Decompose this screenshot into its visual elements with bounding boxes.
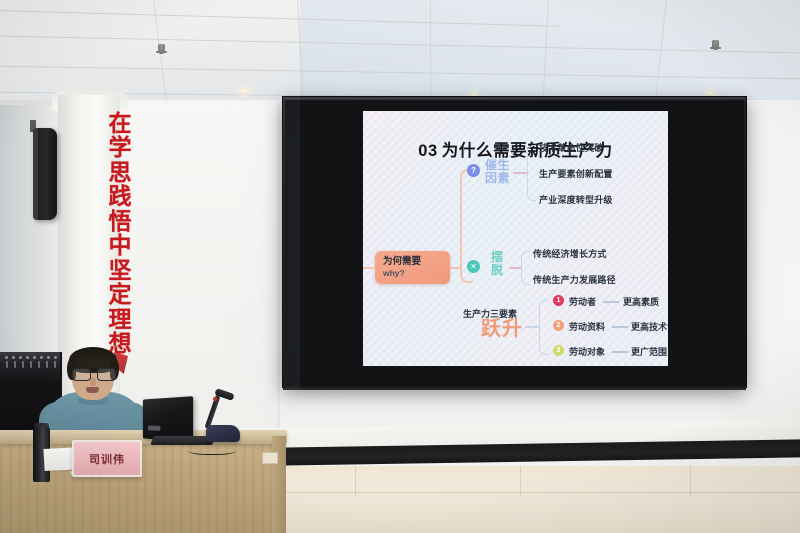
leaf-item: 产业深度转型升级	[539, 193, 613, 206]
row-number-badge: 3	[553, 345, 564, 356]
branch-keyword-2: 摆 脱	[491, 251, 504, 277]
lecture-hall-photo: 在 学 思 践 悟 中 坚 定 理 想 03为什么需要新质生产力 为何需要 wh…	[0, 0, 800, 533]
slide-title-number: 03	[418, 142, 438, 160]
glasses-lens-right	[97, 368, 116, 381]
row-connector-dash	[603, 301, 619, 303]
microphone-cable	[188, 444, 236, 455]
center-node-line2: why?	[383, 268, 450, 279]
banner-char: 坚	[109, 259, 132, 282]
microphone-base[interactable]	[206, 425, 240, 442]
eyebrow-left	[75, 365, 89, 367]
nameplate-text: 司训伟	[89, 451, 125, 467]
row-item-value: 更高素质	[623, 295, 659, 308]
branch-keyword-1-line2: 因素	[485, 172, 510, 185]
floor-tile-seam	[520, 466, 521, 496]
connector-sub-spine-1	[527, 145, 536, 201]
connector-left-stub	[363, 267, 375, 269]
row-number-badge: 2	[553, 320, 564, 331]
laptop-logo	[148, 426, 160, 431]
wall-speaker	[33, 128, 57, 220]
banner-char: 思	[109, 161, 132, 184]
wall-calligraphy-banner: 在 学 思 践 悟 中 坚 定 理 想	[100, 112, 140, 377]
branch-badge-question-icon: ?	[467, 164, 480, 177]
floor-tile-seam	[355, 466, 356, 496]
banner-char: 理	[109, 308, 132, 331]
branch-keyword-2-line2: 脱	[491, 264, 504, 277]
mindmap-center-node: 为何需要 why?	[375, 251, 450, 284]
slide-title: 03为什么需要新质生产力	[363, 137, 668, 161]
leaf-item: 生产要素创新配置	[539, 167, 613, 180]
speaker-trim	[33, 128, 38, 220]
row-item-value: 更高技术含量	[631, 320, 668, 333]
row-number-badge: 1	[553, 295, 564, 306]
banner-char: 践	[109, 185, 132, 208]
screen-bottom-edge	[283, 385, 746, 390]
connector-sub-spine-3	[539, 299, 548, 355]
row-connector-dash	[612, 326, 628, 328]
branch-badge-cross-icon: ✕	[467, 260, 480, 273]
leaf-item: 传统经济增长方式	[533, 247, 607, 260]
glasses-lens-left	[72, 368, 91, 381]
connector-dash	[525, 326, 539, 328]
eyebrow-right	[97, 365, 111, 367]
banner-char: 在	[109, 112, 132, 135]
row-item-label: 劳动资料	[569, 320, 605, 333]
ceiling-downlight	[240, 88, 249, 94]
speaker-nameplate: 司训伟	[72, 440, 142, 477]
presentation-slide: 03为什么需要新质生产力 为何需要 why? ? 催生 因素 技术革命性突破 生…	[363, 111, 668, 366]
ceiling-grid-line	[430, 0, 431, 110]
branch-keyword-1-line1: 催生	[485, 159, 510, 172]
led-display-screen[interactable]: 03为什么需要新质生产力 为何需要 why? ? 催生 因素 技术革命性突破 生…	[283, 97, 746, 387]
laptop[interactable]	[143, 396, 193, 442]
banner-char: 定	[109, 283, 132, 306]
mouth	[86, 387, 99, 393]
connector-dash	[513, 172, 527, 174]
branch-keyword-2-line1: 摆	[491, 251, 504, 264]
row-item-label: 劳动对象	[569, 345, 605, 358]
sprinkler-head-icon	[712, 40, 719, 50]
desk-right-edge	[272, 436, 286, 533]
connector-sub-spine-2	[521, 251, 530, 285]
center-node-line1: 为何需要	[383, 256, 450, 268]
leaf-item: 传统生产力发展路径	[533, 273, 616, 286]
branch-keyword-1: 催生 因素	[485, 159, 510, 185]
sprinkler-head-icon	[158, 44, 165, 54]
row-item-label: 劳动者	[569, 295, 596, 308]
connector-dash	[509, 267, 521, 269]
row-item-value: 更广范围	[631, 345, 667, 358]
row-connector-dash	[612, 351, 628, 353]
branch-keyword-3-big: 跃升	[481, 319, 523, 339]
banner-char: 中	[109, 234, 132, 257]
microphone-indicator-light	[213, 397, 217, 401]
desk-label-tag	[262, 452, 278, 464]
banner-char: 悟	[109, 210, 132, 233]
ceiling-downlight	[706, 90, 715, 96]
glasses-bridge	[89, 372, 98, 373]
nose	[90, 377, 96, 386]
leaf-item: 技术革命性突破	[539, 141, 603, 154]
banner-char: 学	[109, 136, 132, 159]
floor-tile-seam	[690, 466, 691, 496]
